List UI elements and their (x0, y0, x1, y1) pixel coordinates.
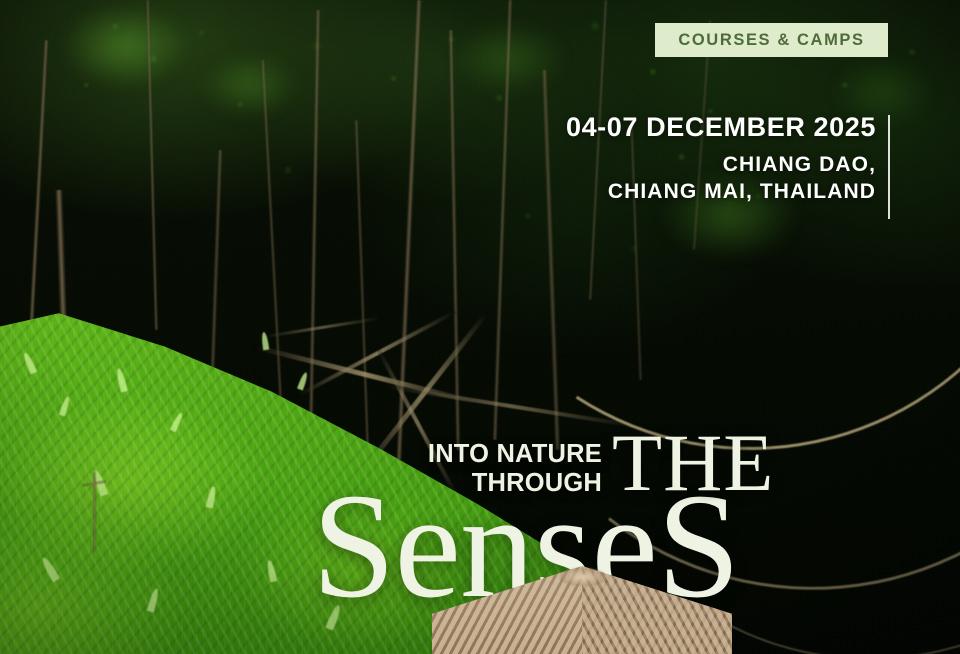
headline-kicker: INTO NATURE THROUGH (376, 440, 602, 497)
headline-kicker-line-1: INTO NATURE (376, 440, 602, 469)
headline-word-the: THE (612, 428, 774, 499)
event-location: CHIANG DAO, CHIANG MAI, THAILAND (566, 152, 876, 206)
event-location-line-1: CHIANG DAO, (566, 152, 876, 179)
event-location-line-2: CHIANG MAI, THAILAND (566, 179, 876, 206)
event-details-block: 04-07 DECEMBER 2025 CHIANG DAO, CHIANG M… (566, 112, 876, 206)
event-dates: 04-07 DECEMBER 2025 (566, 112, 876, 143)
vertical-divider-rule (888, 115, 890, 219)
hut-roof-ridge (560, 568, 606, 586)
headline-kicker-line-2: THROUGH (376, 469, 602, 498)
poster-canvas: COURSES & CAMPS 04-07 DECEMBER 2025 CHIA… (0, 0, 960, 654)
thatched-hut-roof (432, 566, 732, 654)
poster-content: COURSES & CAMPS 04-07 DECEMBER 2025 CHIA… (0, 0, 960, 654)
courses-and-camps-badge[interactable]: COURSES & CAMPS (655, 23, 888, 57)
